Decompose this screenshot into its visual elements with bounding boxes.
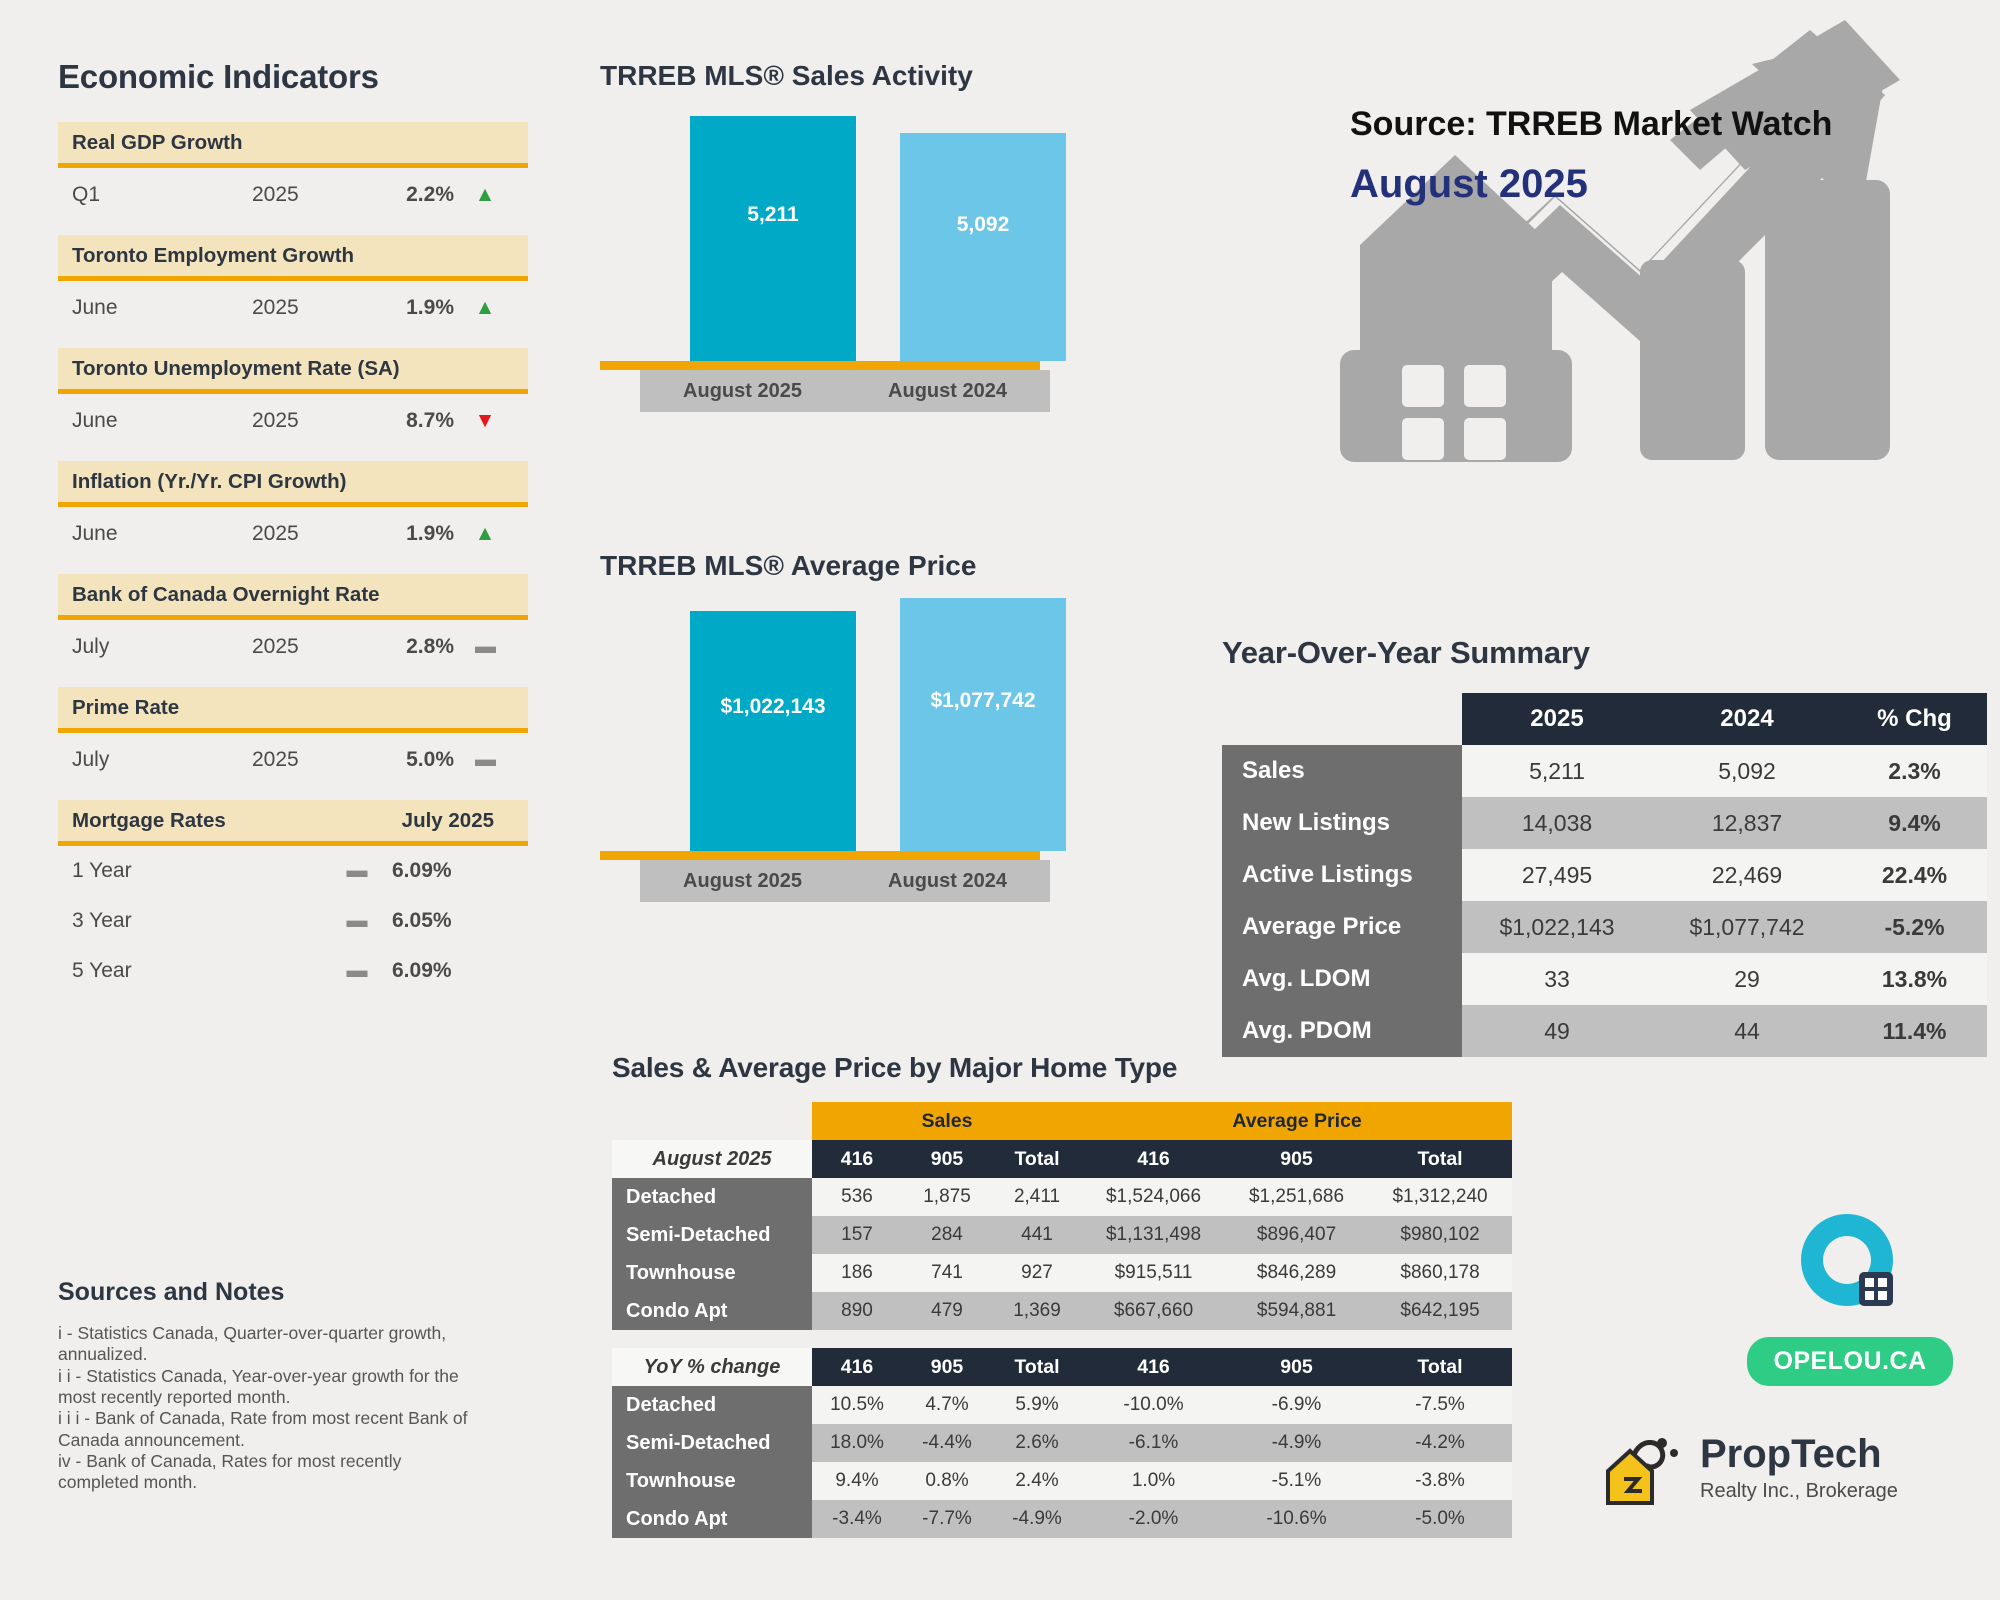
- indicator-header: Real GDP Growth: [58, 122, 528, 168]
- sales-905: 479: [902, 1292, 992, 1330]
- home-type-title: Sales & Average Price by Major Home Type: [612, 1052, 1512, 1084]
- bar-august-2025: $1,022,143: [690, 611, 856, 851]
- sales-chg-905: 4.7%: [902, 1386, 992, 1424]
- price-chg-905: -10.6%: [1225, 1500, 1368, 1538]
- trend-up-icon: ▲: [454, 296, 506, 320]
- indicator-name: Real GDP Growth: [72, 131, 243, 155]
- sub-col-416: 416: [812, 1348, 902, 1386]
- sales-416: 536: [812, 1178, 902, 1216]
- indicator-row: Q1 2025 2.2% ▲: [58, 168, 528, 225]
- indicator-value: 1.9%: [362, 296, 454, 320]
- year-over-year-summary: Year-Over-Year Summary 2025 2024 % Chg S…: [1222, 635, 1962, 1057]
- indicator-block: Toronto Employment Growth June 2025 1.9%…: [58, 235, 528, 338]
- indicator-year: 2025: [252, 522, 362, 546]
- infographic-page: Source: TRREB Market Watch August 2025 E…: [0, 0, 2000, 1600]
- sales-chg-416: 10.5%: [812, 1386, 902, 1424]
- column-header-2025: 2025: [1462, 693, 1652, 745]
- indicator-row: June 2025 1.9% ▲: [58, 507, 528, 564]
- group-header-average-price: Average Price: [1082, 1102, 1512, 1140]
- indicator-row: July 2025 5.0% ▬: [58, 733, 528, 790]
- row-label: New Listings: [1222, 797, 1462, 849]
- table-row: Sales 5,211 5,092 2.3%: [1222, 745, 1987, 797]
- cell-pct-chg: 9.4%: [1842, 797, 1987, 849]
- average-price-chart: TRREB MLS® Average Price $1,022,143 $1,0…: [600, 550, 1120, 922]
- cell-2025: $1,022,143: [1462, 901, 1652, 953]
- sales-activity-chart: TRREB MLS® Sales Activity 5,211 5,092 Au…: [600, 60, 1120, 432]
- table-header-row: 2025 2024 % Chg: [1222, 693, 1987, 745]
- sales-905: 741: [902, 1254, 992, 1292]
- sub-col-905: 905: [1225, 1140, 1368, 1178]
- group-header-sales: Sales: [812, 1102, 1082, 1140]
- row-label: Semi-Detached: [612, 1424, 812, 1462]
- row-label: Average Price: [1222, 901, 1462, 953]
- sub-col-total: Total: [1368, 1140, 1512, 1178]
- cell-pct-chg: 11.4%: [1842, 1005, 1987, 1057]
- table-row: Semi-Detached 157 284 441 $1,131,498 $89…: [612, 1216, 1512, 1254]
- row-label: Condo Apt: [612, 1292, 812, 1330]
- cell-pct-chg: 13.8%: [1842, 953, 1987, 1005]
- table-period-label: YoY % change: [612, 1348, 812, 1386]
- mortgage-term: 1 Year: [72, 859, 322, 883]
- indicator-name: Prime Rate: [72, 696, 179, 720]
- trend-flat-icon: ▬: [322, 959, 392, 983]
- table-row: Detached 10.5% 4.7% 5.9% -10.0% -6.9% -7…: [612, 1386, 1512, 1424]
- price-chg-total: -3.8%: [1368, 1462, 1512, 1500]
- cell-pct-chg: 22.4%: [1842, 849, 1987, 901]
- indicator-block: Prime Rate July 2025 5.0% ▬: [58, 687, 528, 790]
- price-chg-416: 1.0%: [1082, 1462, 1225, 1500]
- trend-up-icon: ▲: [454, 522, 506, 546]
- table-row: Semi-Detached 18.0% -4.4% 2.6% -6.1% -4.…: [612, 1424, 1512, 1462]
- table-row: Avg. LDOM 33 29 13.8%: [1222, 953, 1987, 1005]
- table-row: Townhouse 9.4% 0.8% 2.4% 1.0% -5.1% -3.8…: [612, 1462, 1512, 1500]
- sales-416: 186: [812, 1254, 902, 1292]
- column-header-pct-chg: % Chg: [1842, 693, 1987, 745]
- sources-title: Sources and Notes: [58, 1278, 478, 1307]
- price-chg-total: -5.0%: [1368, 1500, 1512, 1538]
- table-row: Detached 536 1,875 2,411 $1,524,066 $1,2…: [612, 1178, 1512, 1216]
- price-chg-905: -6.9%: [1225, 1386, 1368, 1424]
- row-label: Condo Apt: [612, 1500, 812, 1538]
- price-total: $1,312,240: [1368, 1178, 1512, 1216]
- bar-august-2025: 5,211: [690, 116, 856, 361]
- economic-indicators-title: Economic Indicators: [58, 58, 528, 96]
- group-header-row: Sales Average Price: [612, 1102, 1512, 1140]
- price-chg-416: -2.0%: [1082, 1500, 1225, 1538]
- cell-2025: 33: [1462, 953, 1652, 1005]
- trend-flat-icon: ▬: [322, 909, 392, 933]
- price-416: $1,131,498: [1082, 1216, 1225, 1254]
- trend-up-icon: ▲: [454, 183, 506, 207]
- indicator-value: 5.0%: [362, 748, 454, 772]
- sources-and-notes: Sources and Notes i - Statistics Canada,…: [58, 1278, 478, 1494]
- home-type-table-yoy: YoY % change 416 905 Total 416 905 Total…: [612, 1348, 1512, 1538]
- axis-tick-label: August 2024: [845, 380, 1050, 403]
- table-row: Townhouse 186 741 927 $915,511 $846,289 …: [612, 1254, 1512, 1292]
- sales-total: 927: [992, 1254, 1082, 1292]
- row-label: Semi-Detached: [612, 1216, 812, 1254]
- sales-total: 441: [992, 1216, 1082, 1254]
- row-label: Sales: [1222, 745, 1462, 797]
- corner-cell: [612, 1102, 812, 1140]
- sales-chg-total: -4.9%: [992, 1500, 1082, 1538]
- home-type-table-current: Sales Average Price August 2025 416 905 …: [612, 1102, 1512, 1330]
- sub-col-416: 416: [1082, 1348, 1225, 1386]
- mortgage-term: 3 Year: [72, 909, 322, 933]
- sales-total: 1,369: [992, 1292, 1082, 1330]
- price-905: $594,881: [1225, 1292, 1368, 1330]
- indicator-period: July: [72, 635, 252, 659]
- price-total: $980,102: [1368, 1216, 1512, 1254]
- sources-text: i - Statistics Canada, Quarter-over-quar…: [58, 1323, 478, 1494]
- table-row: Condo Apt 890 479 1,369 $667,660 $594,88…: [612, 1292, 1512, 1330]
- indicator-row: June 2025 8.7% ▼: [58, 394, 528, 451]
- chart-axis-strip: August 2025 August 2024: [640, 860, 1050, 902]
- price-total: $860,178: [1368, 1254, 1512, 1292]
- cell-pct-chg: -5.2%: [1842, 901, 1987, 953]
- proptech-branding[interactable]: PropTech Realty Inc., Brokerage: [1600, 1425, 1898, 1511]
- indicator-block: Inflation (Yr./Yr. CPI Growth) June 2025…: [58, 461, 528, 564]
- indicator-header: Inflation (Yr./Yr. CPI Growth): [58, 461, 528, 507]
- bar-august-2024: 5,092: [900, 133, 1066, 361]
- cell-2024: 12,837: [1652, 797, 1842, 849]
- price-chg-416: -6.1%: [1082, 1424, 1225, 1462]
- bar-value-label: 5,092: [900, 213, 1066, 237]
- sales-905: 284: [902, 1216, 992, 1254]
- column-header-2024: 2024: [1652, 693, 1842, 745]
- sales-905: 1,875: [902, 1178, 992, 1216]
- price-chg-total: -4.2%: [1368, 1424, 1512, 1462]
- indicator-year: 2025: [252, 409, 362, 433]
- sales-chg-905: -7.7%: [902, 1500, 992, 1538]
- row-label: Avg. LDOM: [1222, 953, 1462, 1005]
- sub-col-905: 905: [902, 1348, 992, 1386]
- bar-august-2024: $1,077,742: [900, 598, 1066, 851]
- sub-col-416: 416: [812, 1140, 902, 1178]
- chart-title: TRREB MLS® Sales Activity: [600, 60, 1120, 92]
- mortgage-value: 6.09%: [392, 959, 512, 983]
- sales-chg-total: 5.9%: [992, 1386, 1082, 1424]
- sub-col-total: Total: [992, 1348, 1082, 1386]
- indicator-header: Toronto Unemployment Rate (SA): [58, 348, 528, 394]
- indicator-period: June: [72, 409, 252, 433]
- indicator-header: Prime Rate: [58, 687, 528, 733]
- trend-flat-icon: ▬: [454, 635, 506, 659]
- trend-flat-icon: ▬: [322, 859, 392, 883]
- sales-chg-905: -4.4%: [902, 1424, 992, 1462]
- indicator-value: 8.7%: [362, 409, 454, 433]
- row-label: Detached: [612, 1386, 812, 1424]
- price-chg-905: -5.1%: [1225, 1462, 1368, 1500]
- price-chg-416: -10.0%: [1082, 1386, 1225, 1424]
- opelou-branding[interactable]: OPELOU.CA: [1700, 1210, 2000, 1386]
- sales-chg-416: -3.4%: [812, 1500, 902, 1538]
- axis-tick-label: August 2024: [845, 870, 1050, 893]
- indicator-name: Bank of Canada Overnight Rate: [72, 583, 380, 607]
- price-416: $915,511: [1082, 1254, 1225, 1292]
- table-row: New Listings 14,038 12,837 9.4%: [1222, 797, 1987, 849]
- economic-indicators-panel: Economic Indicators Real GDP Growth Q1 2…: [58, 58, 528, 1006]
- cell-2025: 49: [1462, 1005, 1652, 1057]
- sub-col-416: 416: [1082, 1140, 1225, 1178]
- cell-2024: 22,469: [1652, 849, 1842, 901]
- price-chg-total: -7.5%: [1368, 1386, 1512, 1424]
- indicator-year: 2025: [252, 748, 362, 772]
- axis-tick-label: August 2025: [640, 380, 845, 403]
- indicator-period: Q1: [72, 183, 252, 207]
- cell-pct-chg: 2.3%: [1842, 745, 1987, 797]
- indicator-block: Real GDP Growth Q1 2025 2.2% ▲: [58, 122, 528, 225]
- cell-2025: 14,038: [1462, 797, 1652, 849]
- sales-chg-total: 2.6%: [992, 1424, 1082, 1462]
- indicator-name: Toronto Employment Growth: [72, 244, 354, 268]
- mortgage-rates-header: Mortgage Rates July 2025: [58, 800, 528, 846]
- indicator-year: 2025: [252, 183, 362, 207]
- row-label: Active Listings: [1222, 849, 1462, 901]
- price-416: $1,524,066: [1082, 1178, 1225, 1216]
- row-label: Townhouse: [612, 1462, 812, 1500]
- source-badge: Source: TRREB Market Watch August 2025: [1350, 105, 1832, 207]
- sales-chg-416: 9.4%: [812, 1462, 902, 1500]
- chart-baseline: [600, 361, 1040, 370]
- indicator-row: June 2025 1.9% ▲: [58, 281, 528, 338]
- indicator-name: Toronto Unemployment Rate (SA): [72, 357, 400, 381]
- yoy-table: 2025 2024 % Chg Sales 5,211 5,092 2.3% N…: [1222, 693, 1987, 1057]
- opelou-url-badge[interactable]: OPELOU.CA: [1747, 1337, 1952, 1386]
- home-type-panel: Sales & Average Price by Major Home Type…: [612, 1052, 1512, 1538]
- indicator-block: Toronto Unemployment Rate (SA) June 2025…: [58, 348, 528, 451]
- price-total: $642,195: [1368, 1292, 1512, 1330]
- indicator-value: 2.8%: [362, 635, 454, 659]
- mortgage-rates-block: Mortgage Rates July 2025 1 Year ▬ 6.09% …: [58, 800, 528, 996]
- sales-chg-total: 2.4%: [992, 1462, 1082, 1500]
- price-905: $846,289: [1225, 1254, 1368, 1292]
- chart-axis-strip: August 2025 August 2024: [640, 370, 1050, 412]
- table-row: Avg. PDOM 49 44 11.4%: [1222, 1005, 1987, 1057]
- indicator-header: Toronto Employment Growth: [58, 235, 528, 281]
- sales-416: 890: [812, 1292, 902, 1330]
- indicator-period: July: [72, 748, 252, 772]
- price-905: $1,251,686: [1225, 1178, 1368, 1216]
- row-label: Townhouse: [612, 1254, 812, 1292]
- table-row: Average Price $1,022,143 $1,077,742 -5.2…: [1222, 901, 1987, 953]
- opelou-logo-icon: [1785, 1210, 1915, 1318]
- period-label: August 2025: [1350, 162, 1832, 207]
- cell-2024: 5,092: [1652, 745, 1842, 797]
- cell-2025: 5,211: [1462, 745, 1652, 797]
- mortgage-row: 5 Year ▬ 6.09%: [58, 946, 528, 996]
- mortgage-value: 6.05%: [392, 909, 512, 933]
- mortgage-row: 1 Year ▬ 6.09%: [58, 846, 528, 896]
- indicator-value: 2.2%: [362, 183, 454, 207]
- sales-total: 2,411: [992, 1178, 1082, 1216]
- indicator-year: 2025: [252, 635, 362, 659]
- source-label: Source: TRREB Market Watch: [1350, 105, 1832, 144]
- proptech-name: PropTech: [1700, 1434, 1898, 1474]
- sub-col-905: 905: [1225, 1348, 1368, 1386]
- mortgage-row: 3 Year ▬ 6.05%: [58, 896, 528, 946]
- corner-cell: [1222, 693, 1462, 745]
- indicator-row: July 2025 2.8% ▬: [58, 620, 528, 677]
- mortgage-value: 6.09%: [392, 859, 512, 883]
- sales-chg-905: 0.8%: [902, 1462, 992, 1500]
- indicator-period: June: [72, 522, 252, 546]
- sub-col-total: Total: [992, 1140, 1082, 1178]
- mortgage-term: 5 Year: [72, 959, 322, 983]
- trend-down-icon: ▼: [454, 409, 506, 433]
- mortgage-rates-label: Mortgage Rates: [72, 809, 226, 833]
- axis-tick-label: August 2025: [640, 870, 845, 893]
- yoy-title: Year-Over-Year Summary: [1222, 635, 1962, 671]
- cell-2024: 44: [1652, 1005, 1842, 1057]
- sub-header-row: YoY % change 416 905 Total 416 905 Total: [612, 1348, 1512, 1386]
- indicator-block: Bank of Canada Overnight Rate July 2025 …: [58, 574, 528, 677]
- bar-value-label: $1,077,742: [900, 689, 1066, 713]
- proptech-logo-icon: [1600, 1425, 1686, 1511]
- indicator-year: 2025: [252, 296, 362, 320]
- proptech-subtitle: Realty Inc., Brokerage: [1700, 1480, 1898, 1503]
- cell-2025: 27,495: [1462, 849, 1652, 901]
- bar-value-label: 5,211: [690, 203, 856, 227]
- table-period-label: August 2025: [612, 1140, 812, 1178]
- mortgage-rates-period: July 2025: [402, 809, 514, 833]
- chart-title: TRREB MLS® Average Price: [600, 550, 1120, 582]
- table-row: Active Listings 27,495 22,469 22.4%: [1222, 849, 1987, 901]
- chart-baseline: [600, 851, 1040, 860]
- indicator-period: June: [72, 296, 252, 320]
- price-416: $667,660: [1082, 1292, 1225, 1330]
- row-label: Detached: [612, 1178, 812, 1216]
- indicator-header: Bank of Canada Overnight Rate: [58, 574, 528, 620]
- row-label: Avg. PDOM: [1222, 1005, 1462, 1057]
- indicator-value: 1.9%: [362, 522, 454, 546]
- cell-2024: $1,077,742: [1652, 901, 1842, 953]
- sales-416: 157: [812, 1216, 902, 1254]
- price-905: $896,407: [1225, 1216, 1368, 1254]
- sub-header-row: August 2025 416 905 Total 416 905 Total: [612, 1140, 1512, 1178]
- trend-flat-icon: ▬: [454, 748, 506, 772]
- table-row: Condo Apt -3.4% -7.7% -4.9% -2.0% -10.6%…: [612, 1500, 1512, 1538]
- indicator-name: Inflation (Yr./Yr. CPI Growth): [72, 470, 347, 494]
- bar-value-label: $1,022,143: [690, 695, 856, 719]
- price-chg-905: -4.9%: [1225, 1424, 1368, 1462]
- cell-2024: 29: [1652, 953, 1842, 1005]
- sub-col-total: Total: [1368, 1348, 1512, 1386]
- sub-col-905: 905: [902, 1140, 992, 1178]
- sales-chg-416: 18.0%: [812, 1424, 902, 1462]
